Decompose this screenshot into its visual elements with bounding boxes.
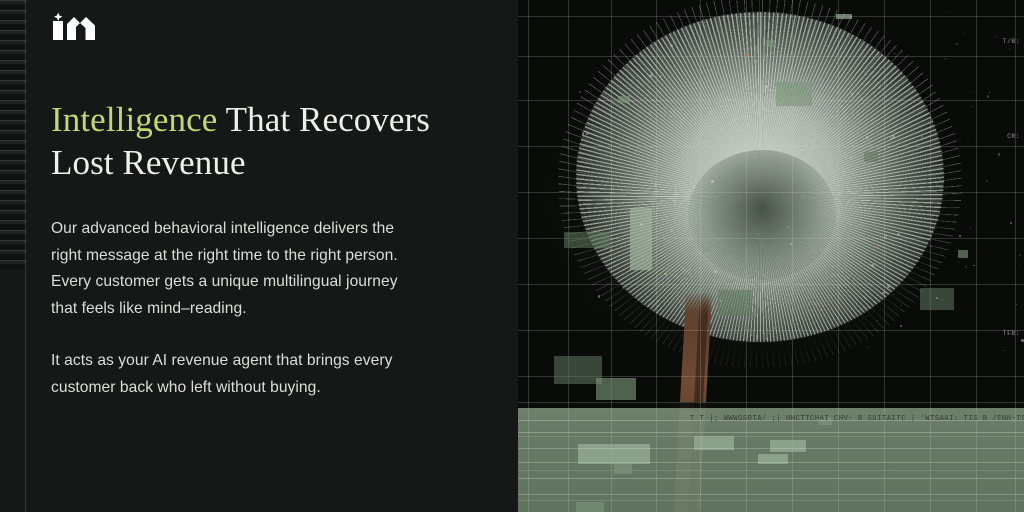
glitch-block [958,250,968,258]
band-stripe [518,462,1024,463]
headline-accent: Intelligence [51,100,217,139]
grid-line-h [518,56,1024,57]
glitch-block [718,290,752,316]
seed-speckle [694,118,695,119]
seed-speckle [866,136,868,138]
seed-speckle [622,287,624,289]
edge-label-1: CR: [1007,133,1020,140]
seed-speckle [711,180,713,182]
glitch-block [564,232,610,248]
glitch-block [864,152,878,162]
speckle [1021,339,1023,341]
edge-label-2: TFB: [1003,330,1020,337]
hero-visual-panel: T T |; WWWGSOTA/ ;| HHCTTCHAI CHV- B SUI… [518,0,1024,512]
speckle [989,92,990,93]
grid-line-h [518,436,1024,437]
seed-speckle [746,54,748,56]
grid-line-h [518,100,1024,101]
seed-speckle [755,60,758,63]
micro-text-strip: T T |; WWWGSOTA/ ;| HHCTTCHAI CHV- B SUI… [690,414,1024,425]
hero-paragraph-2: It acts as your AI revenue agent that br… [51,348,426,401]
seed-speckle [887,285,890,288]
seed-speckle [900,325,901,326]
seed-speckle [816,303,818,305]
speckle [892,135,895,138]
speckle [896,256,898,258]
hero-paragraph-1: Our advanced behavioral intelligence del… [51,216,426,322]
grid-line-h [518,16,1024,17]
speckle [956,43,958,45]
seed-speckle [664,273,667,276]
speckle [936,297,938,299]
hero-content-column: Intelligence That RecoversLost Revenue O… [0,0,518,512]
speckle [967,138,968,139]
speckle [958,262,959,263]
seed-speckle [640,223,643,226]
glitch-block [618,96,630,103]
seed-speckle [890,137,892,139]
speckle [998,153,1001,156]
glitch-block [578,444,650,464]
seed-speckle [733,118,736,121]
speckle [942,180,944,182]
headline-line2: Lost Revenue [51,143,246,182]
glitch-block [770,440,806,452]
page-title: Intelligence That RecoversLost Revenue [51,99,481,184]
band-stripe [518,478,1024,479]
speckle [941,299,943,301]
glitch-block [576,502,604,512]
grid-line-h [518,500,1024,501]
grid-line-h [518,192,1024,193]
speckle [1004,350,1005,351]
seed-speckle [650,74,653,77]
hero-body-copy: Our advanced behavioral intelligence del… [51,216,426,401]
grid-line-h [518,284,1024,285]
glitch-block [614,464,632,474]
seed-speckle [877,320,878,321]
glitch-block [596,378,636,400]
speckle [964,33,965,34]
speckle [970,92,971,93]
seed-speckle [877,246,879,248]
band-stripe [518,494,1024,495]
brand-logo[interactable] [51,12,97,42]
hero-section: Intelligence That RecoversLost Revenue O… [0,0,1024,512]
seed-speckle [601,156,602,157]
seed-speckle [670,44,673,47]
seed-speckle [598,295,600,297]
headline-rest: That Recovers [217,100,430,139]
speckle [995,36,996,37]
speckle [972,106,973,107]
seed-speckle [610,249,611,250]
speckle [1019,264,1020,265]
glitch-block [630,208,652,270]
glitch-block [776,82,812,106]
grid-line-h [518,146,1024,147]
glitch-block [554,356,602,384]
band-stripe [518,448,1024,449]
glitch-block [766,40,775,47]
grid-line-h [518,330,1024,331]
grid-line-h [518,470,1024,471]
im-sparkle-logo-icon [51,12,97,42]
seed-speckle [878,51,879,52]
seed-speckle [766,118,767,119]
seed-speckle [850,157,852,159]
glitch-block [836,14,852,19]
speckle [921,136,922,137]
edge-label-0: T/B: [1003,38,1020,45]
speckle [959,235,961,237]
seed-speckle [811,324,812,325]
grid-line-h [518,402,1024,403]
speckle [871,264,874,267]
seed-speckle [594,230,595,231]
seed-speckle [765,85,768,88]
seed-speckle [820,310,821,311]
seed-speckle [648,112,651,115]
seed-speckle [637,67,638,68]
band-stripe [518,432,1024,433]
seed-speckle [779,72,782,75]
seed-speckle [693,186,694,187]
dandelion-core [688,150,836,280]
seed-speckle [582,132,584,134]
